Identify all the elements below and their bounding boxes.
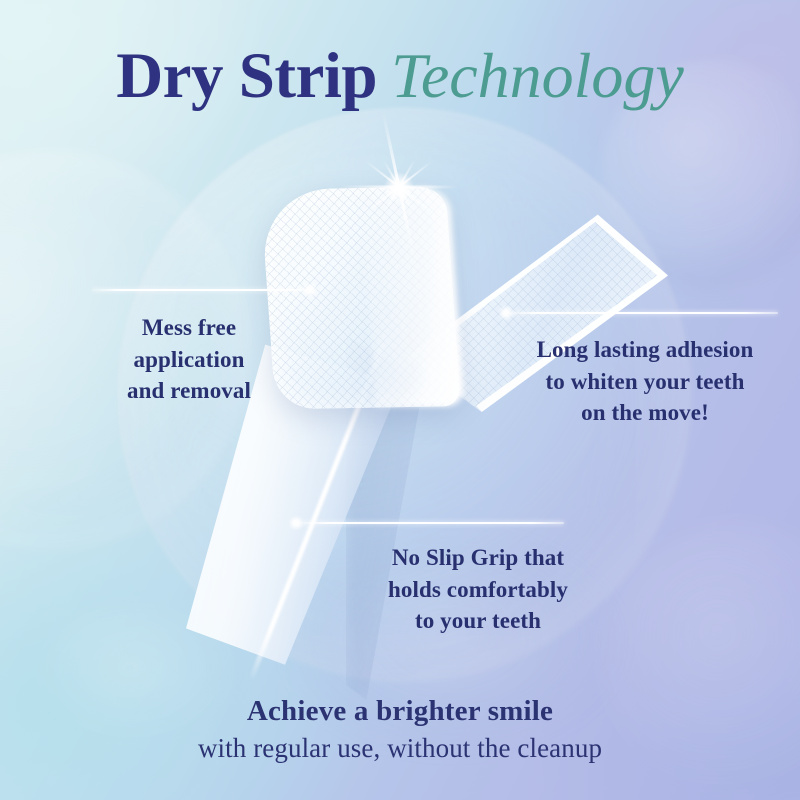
callout-anchor-dot-right [498, 305, 514, 321]
tagline-headline: Achieve a brighter smile [0, 693, 800, 729]
callout-mess-free: Mess free application and removal [64, 312, 314, 407]
callout-line: holds comfortably [330, 574, 626, 606]
strip-flap-gloss [361, 187, 465, 408]
callout-line: to whiten your teeth [504, 366, 786, 398]
callout-line: Mess free [64, 312, 314, 344]
title-bold-text: Dry Strip [116, 40, 377, 112]
callout-line: on the move! [504, 397, 786, 429]
callout-connector-right [506, 312, 778, 314]
callout-no-slip-grip: No Slip Grip that holds comfortably to y… [330, 542, 626, 637]
callout-line: No Slip Grip that [330, 542, 626, 574]
callout-connector-left [92, 289, 310, 291]
callout-line: and removal [64, 375, 314, 407]
callout-anchor-dot-left [302, 282, 318, 298]
tagline-subtext: with regular use, without the cleanup [0, 731, 800, 766]
callout-anchor-dot-bottom [288, 515, 304, 531]
page-title: Dry StripTechnology [0, 44, 800, 109]
callout-line: Long lasting adhesion [504, 334, 786, 366]
sparkle-icon [397, 185, 401, 189]
promo-graphic: Dry StripTechnology Mess free applicatio… [0, 0, 800, 800]
callout-line: to your teeth [330, 605, 626, 637]
callout-line: application [64, 344, 314, 376]
callout-connector-bottom [296, 522, 564, 524]
title-italic-text: Technology [391, 40, 684, 111]
callout-long-lasting: Long lasting adhesion to whiten your tee… [504, 334, 786, 429]
footer-tagline: Achieve a brighter smile with regular us… [0, 693, 800, 766]
